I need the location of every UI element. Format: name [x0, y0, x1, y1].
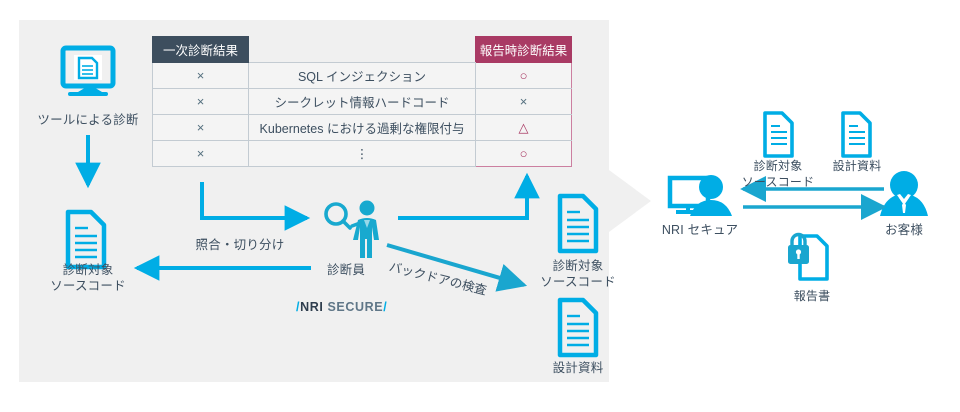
logo-text-secure: SECURE: [327, 300, 383, 314]
document-icon-source-right: [560, 196, 596, 251]
person-magnifier-icon: [326, 201, 379, 259]
label-source-right-line1: 診断対象: [518, 258, 638, 274]
mark-cross-icon: ×: [197, 146, 205, 161]
locked-document-icon: [788, 235, 827, 280]
mark-triangle-icon: △: [519, 120, 529, 135]
label-inspector: 診断員: [306, 262, 386, 278]
nri-secure-logo: /NRI SECURE/: [296, 300, 388, 316]
cell-primary: ×: [153, 141, 249, 167]
logo-text-nri: NRI: [300, 300, 327, 314]
cell-report: ×: [476, 89, 572, 115]
document-icon-source-left: [68, 212, 104, 267]
label-source-left-line1: 診断対象: [18, 262, 158, 278]
document-icon-deliverable-design: [843, 113, 870, 156]
label-deliverable-source-line2: ソースコード: [718, 174, 838, 190]
mark-circle-icon: ○: [520, 146, 528, 161]
cell-primary: ×: [153, 115, 249, 141]
label-deliverable-design: 設計資料: [817, 158, 897, 174]
cell-report: ○: [476, 141, 572, 167]
arrow-table-to-inspector: [202, 182, 307, 218]
label-design-doc: 設計資料: [518, 360, 638, 376]
label-source-right-line2: ソースコード: [518, 274, 638, 290]
cell-primary: ×: [153, 63, 249, 89]
document-icon-design-doc: [560, 300, 596, 355]
monitor-document-icon: [63, 48, 113, 96]
cell-primary: ×: [153, 89, 249, 115]
table-header-middle: [248, 37, 475, 63]
diagram-canvas: 一次診断結果 報告時診断結果 × SQL インジェクション ○ × シークレット…: [0, 0, 960, 412]
table-header-report: 報告時診断結果: [476, 37, 572, 63]
diagnosis-results-table: 一次診断結果 報告時診断結果 × SQL インジェクション ○ × シークレット…: [152, 36, 572, 167]
label-collate: 照合・切り分け: [165, 237, 315, 253]
label-nri-secure: NRI セキュア: [640, 222, 760, 238]
cell-item: シークレット情報ハードコード: [248, 89, 475, 115]
cell-item: Kubernetes における過剰な権限付与: [248, 115, 475, 141]
table-row: × Kubernetes における過剰な権限付与 △: [153, 115, 572, 141]
label-customer: お客様: [854, 222, 954, 238]
table-row: × シークレット情報ハードコード ×: [153, 89, 572, 115]
cell-report: ○: [476, 63, 572, 89]
mark-cross-icon: ×: [197, 94, 205, 109]
cell-item: SQL インジェクション: [248, 63, 475, 89]
table-header-row: 一次診断結果 報告時診断結果: [153, 37, 572, 63]
arrow-inspector-to-table: [398, 176, 527, 218]
mark-circle-icon: ○: [520, 68, 528, 83]
table-header-primary: 一次診断結果: [153, 37, 249, 63]
cell-item: ⋮: [248, 141, 475, 167]
label-tool-scan: ツールによる診断: [18, 112, 158, 128]
mark-cross-icon: ×: [520, 94, 528, 109]
table-row: × ⋮ ○: [153, 141, 572, 167]
mark-cross-icon: ×: [197, 120, 205, 135]
document-icon-deliverable-source: [765, 113, 792, 156]
person-suit-icon: [880, 171, 928, 216]
label-source-left-line2: ソースコード: [18, 278, 158, 294]
mark-cross-icon: ×: [197, 68, 205, 83]
cell-report: △: [476, 115, 572, 141]
table-row: × SQL インジェクション ○: [153, 63, 572, 89]
logo-slash-right: /: [383, 300, 387, 314]
label-report: 報告書: [762, 288, 862, 304]
